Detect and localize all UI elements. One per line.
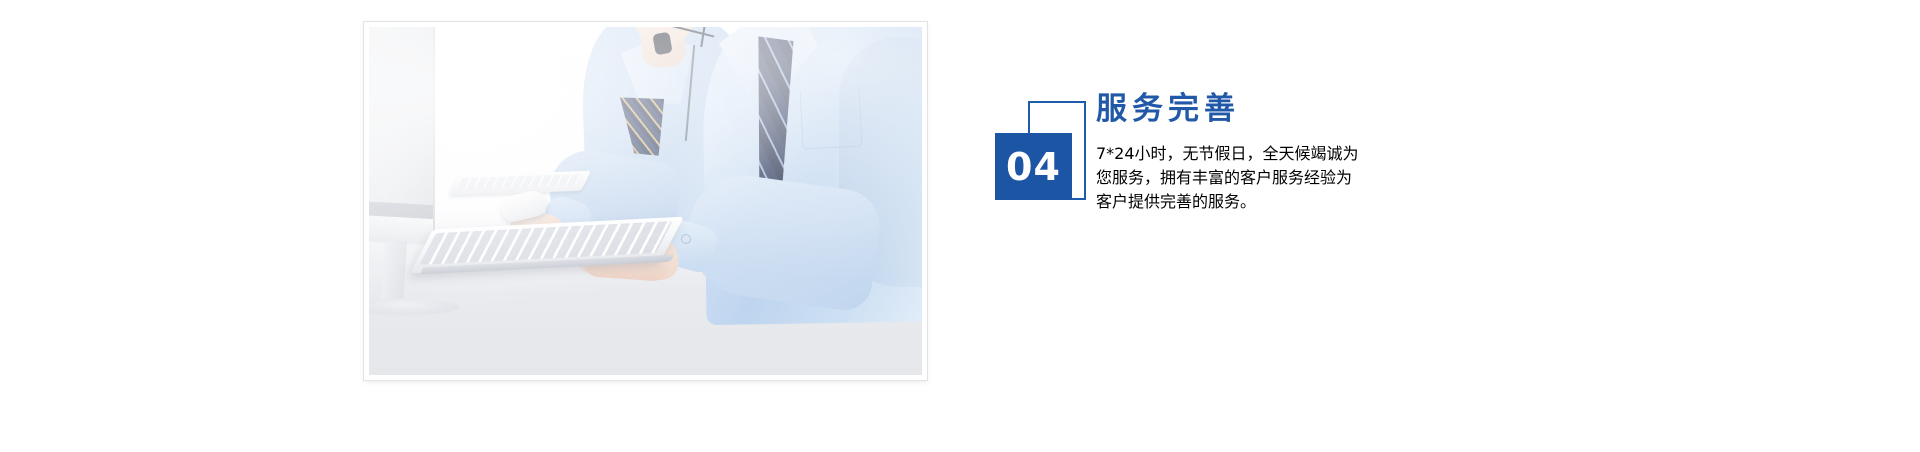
headset-microphone xyxy=(652,32,672,56)
description-line-2: 您服务，拥有丰富的客户服务经验为 xyxy=(1096,164,1516,188)
agent-front-cuff-button xyxy=(682,235,690,243)
call-center-photo xyxy=(369,27,922,375)
badge-filled-square: 04 xyxy=(995,133,1072,200)
feature-title: 服务完善 xyxy=(1096,92,1516,126)
description-line-1: 7*24小时，无节假日，全天候竭诚为 xyxy=(1096,140,1516,164)
service-feature-banner: 04 服务完善 7*24小时，无节假日，全天候竭诚为 您服务，拥有丰富的客户服务… xyxy=(0,0,1920,452)
step-number-badge: 04 xyxy=(995,133,1072,200)
agent-front-shirt-pocket xyxy=(799,87,862,149)
monitor-stand-neck xyxy=(381,241,407,303)
description-line-3: 客户提供完善的服务。 xyxy=(1096,188,1516,212)
feature-text-column: 服务完善 7*24小时，无节假日，全天候竭诚为 您服务，拥有丰富的客户服务经验为… xyxy=(1096,92,1516,228)
photo-frame xyxy=(363,21,928,381)
feature-content: 04 服务完善 7*24小时，无节假日，全天候竭诚为 您服务，拥有丰富的客户服务… xyxy=(995,92,1615,272)
badge-number: 04 xyxy=(1006,148,1061,186)
